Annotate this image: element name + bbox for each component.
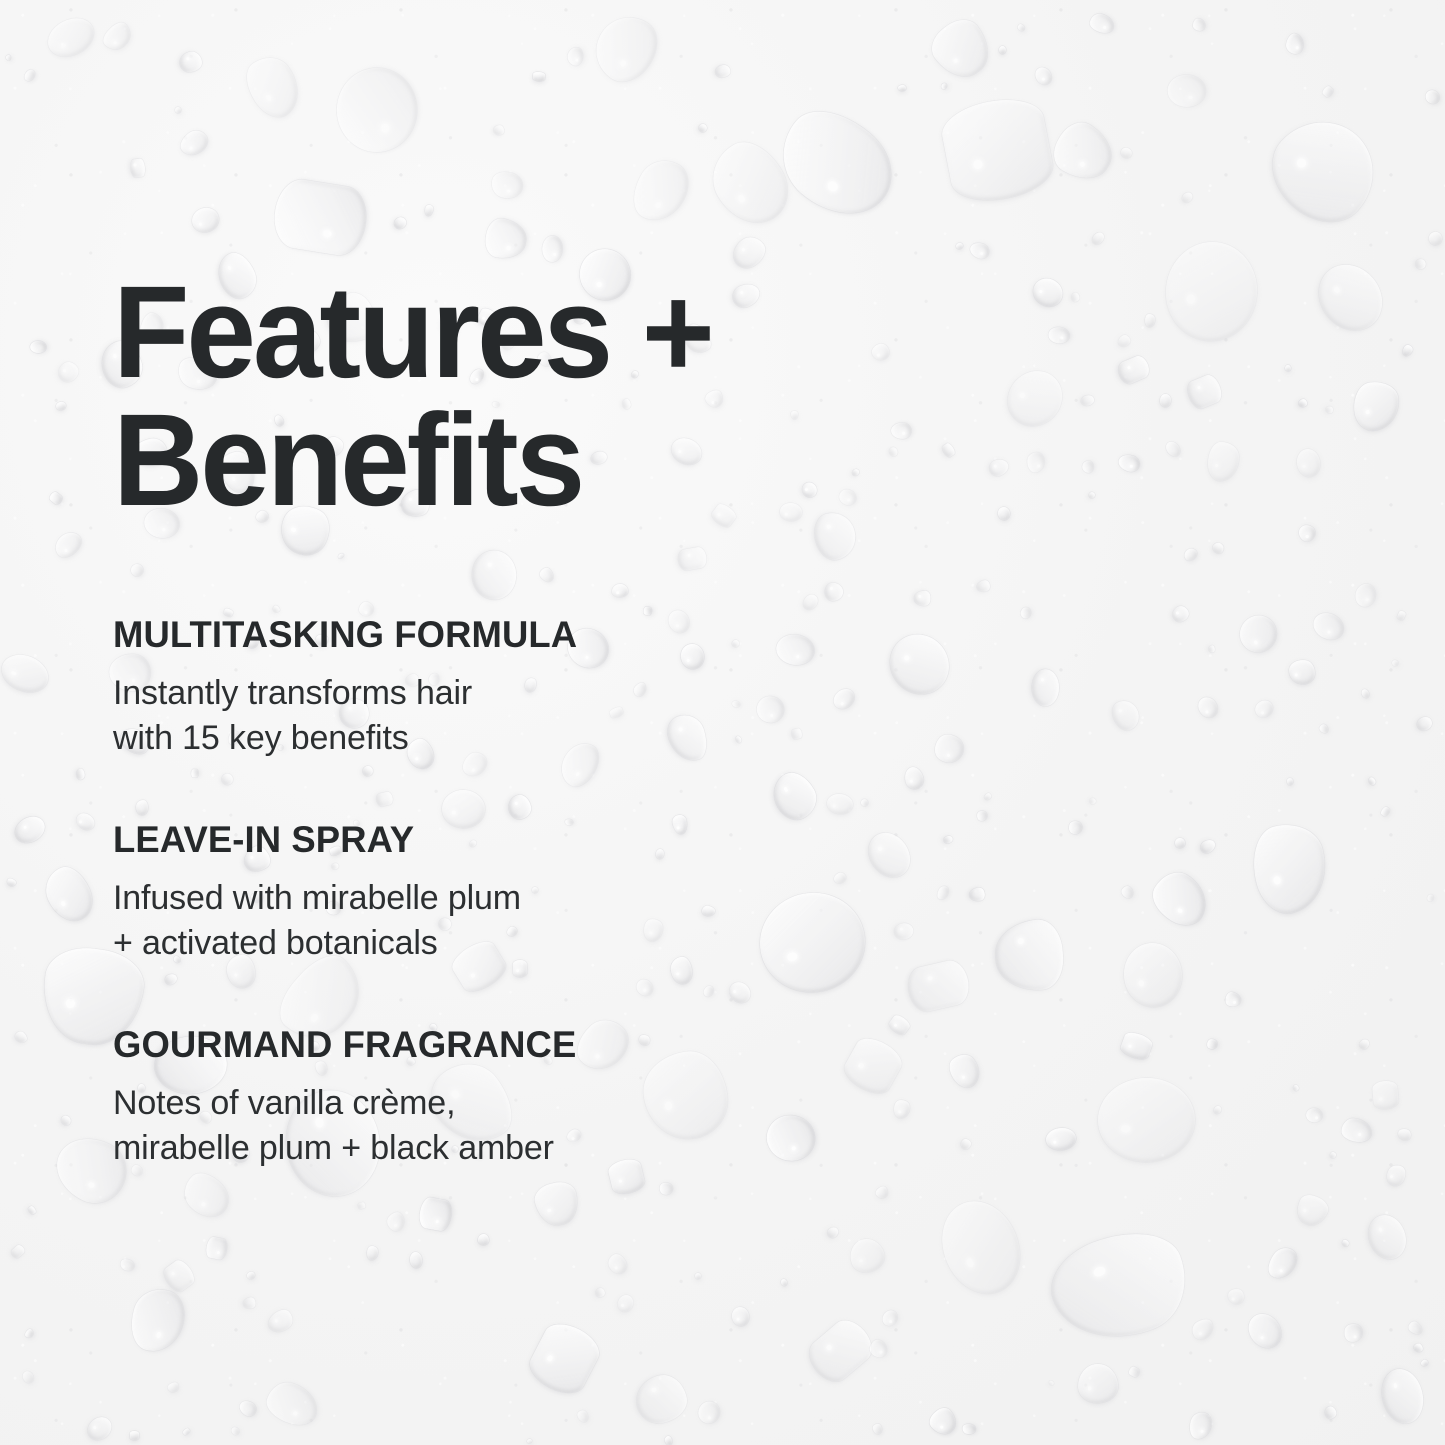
feature-heading: LEAVE-IN SPRAY bbox=[113, 820, 881, 860]
water-droplet bbox=[1372, 1080, 1400, 1110]
feature-block-multitasking-formula: MULTITASKING FORMULA Instantly transform… bbox=[113, 615, 893, 761]
feature-body: Instantly transforms hair with 15 key be… bbox=[113, 671, 893, 761]
feature-body: Infused with mirabelle plum + activated … bbox=[113, 876, 893, 966]
content-column: Features + Benefits MULTITASKING FORMULA… bbox=[113, 0, 1213, 1445]
feature-body: Notes of vanilla crème, mirabelle plum +… bbox=[113, 1081, 893, 1171]
water-droplet bbox=[1416, 259, 1426, 269]
feature-block-leave-in-spray: LEAVE-IN SPRAY Infused with mirabelle pl… bbox=[113, 820, 893, 966]
feature-heading: MULTITASKING FORMULA bbox=[113, 615, 881, 655]
feature-block-gourmand-fragrance: GOURMAND FRAGRANCE Notes of vanilla crèm… bbox=[113, 1025, 893, 1171]
product-feature-card: Features + Benefits MULTITASKING FORMULA… bbox=[0, 0, 1445, 1445]
water-droplet bbox=[76, 768, 85, 780]
feature-heading: GOURMAND FRAGRANCE bbox=[113, 1025, 881, 1065]
page-title: Features + Benefits bbox=[113, 268, 712, 525]
